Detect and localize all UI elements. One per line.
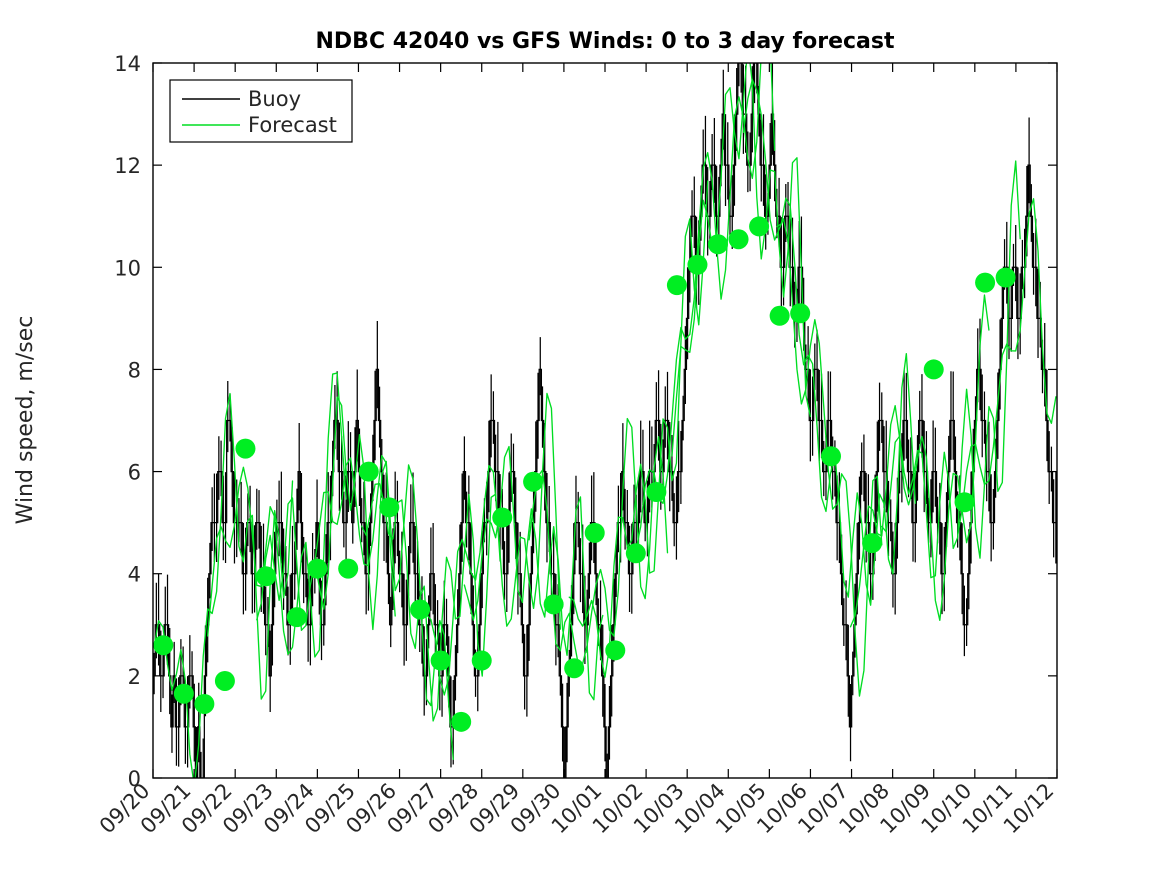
forecast-marker-dot <box>924 359 944 379</box>
forecast-marker-dot <box>472 651 492 671</box>
forecast-marker-dot <box>410 599 430 619</box>
forecast-marker-dot <box>523 472 543 492</box>
forecast-marker-dot <box>492 508 512 528</box>
forecast-marker-dot <box>359 462 379 482</box>
wind-speed-chart: NDBC 42040 vs GFS Winds: 0 to 3 day fore… <box>0 0 1167 875</box>
forecast-marker-dot <box>770 306 790 326</box>
y-tick-label: 10 <box>114 256 141 280</box>
forecast-marker-dot <box>544 594 564 614</box>
y-tick-label: 2 <box>128 665 141 689</box>
forecast-marker-dot <box>790 303 810 323</box>
chart-figure: NDBC 42040 vs GFS Winds: 0 to 3 day fore… <box>0 0 1167 875</box>
forecast-marker-dot <box>379 497 399 517</box>
legend-label-buoy: Buoy <box>248 87 301 111</box>
forecast-marker-dot <box>749 216 769 236</box>
y-tick-label: 4 <box>128 563 141 587</box>
chart-legend: Buoy Forecast <box>170 80 352 142</box>
y-axis-label: Wind speed, m/sec <box>13 316 38 525</box>
forecast-marker-dot <box>708 234 728 254</box>
forecast-marker-dot <box>975 273 995 293</box>
forecast-marker-dot <box>646 482 666 502</box>
forecast-marker-dot <box>174 684 194 704</box>
forecast-marker-dot <box>153 635 173 655</box>
forecast-marker-dot <box>605 640 625 660</box>
forecast-marker-dot <box>194 694 214 714</box>
forecast-marker-dot <box>729 229 749 249</box>
forecast-marker-dot <box>955 492 975 512</box>
forecast-marker-dot <box>585 523 605 543</box>
forecast-marker-dot <box>256 566 276 586</box>
forecast-marker-dot <box>667 275 687 295</box>
forecast-marker-dot <box>626 543 646 563</box>
forecast-marker-dot <box>287 607 307 627</box>
forecast-marker-dot <box>564 658 584 678</box>
y-tick-label: 14 <box>114 52 141 76</box>
y-tick-label: 8 <box>128 358 141 382</box>
forecast-marker-dot <box>687 255 707 275</box>
forecast-marker-dot <box>338 559 358 579</box>
forecast-marker-dot <box>431 651 451 671</box>
forecast-marker-dot <box>996 268 1016 288</box>
forecast-marker-dot <box>862 533 882 553</box>
forecast-marker-dot <box>821 446 841 466</box>
forecast-marker-dot <box>215 671 235 691</box>
y-tick-label: 6 <box>128 461 141 485</box>
forecast-marker-dot <box>307 559 327 579</box>
forecast-marker-dot <box>235 439 255 459</box>
forecast-marker-dot <box>451 712 471 732</box>
legend-label-forecast: Forecast <box>248 113 337 137</box>
y-tick-label: 12 <box>114 154 141 178</box>
chart-title: NDBC 42040 vs GFS Winds: 0 to 3 day fore… <box>316 29 895 54</box>
